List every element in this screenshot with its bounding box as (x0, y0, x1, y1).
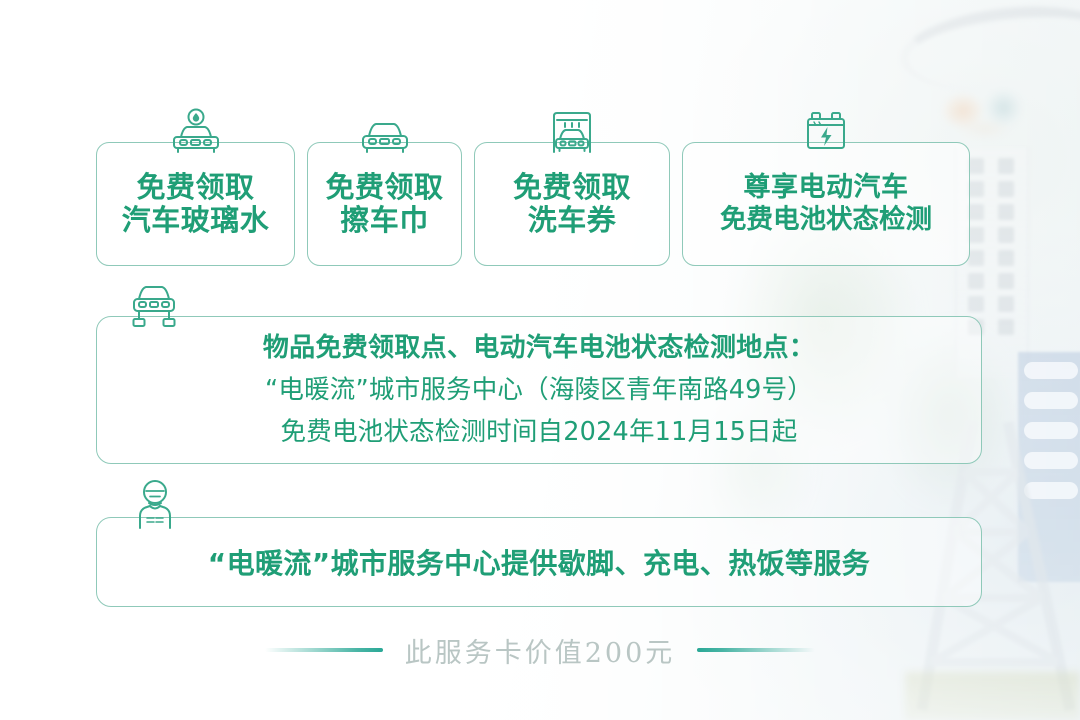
perk-card-car-wash[interactable]: 免费领取 洗车券 (474, 142, 670, 266)
perk-card-line1: 免费领取 (513, 171, 631, 204)
battery-bolt-icon (794, 108, 858, 154)
car-on-lift-icon (125, 279, 185, 329)
perk-card-wipe-towel[interactable]: 免费领取 擦车巾 (307, 142, 462, 266)
location-panel-schedule: 免费电池状态检测时间自2024年11月15日起 (281, 413, 798, 451)
footer-rule-left (265, 648, 383, 652)
perk-card-line2: 汽车玻璃水 (122, 204, 270, 237)
perk-card-line1: 尊享电动汽车 (744, 172, 909, 204)
car-icon (353, 108, 417, 154)
location-panel-title: 物品免费领取点、电动汽车电池状态检测地点： (263, 330, 815, 367)
perk-card-glass-water[interactable]: 免费领取 汽车玻璃水 (96, 142, 295, 266)
service-panel-text: “电暖流”城市服务中心提供歇脚、充电、热饭等服务 (208, 542, 870, 582)
location-info-panel[interactable]: 物品免费领取点、电动汽车电池状态检测地点： “电暖流”城市服务中心（海陵区青年南… (96, 316, 982, 464)
perk-card-line2: 免费电池状态检测 (720, 204, 932, 236)
perk-card-battery-check[interactable]: 尊享电动汽车 免费电池状态检测 (682, 142, 970, 266)
poster-content: 免费领取 汽车玻璃水 免费领取 擦车巾 (0, 0, 1080, 720)
service-info-panel[interactable]: “电暖流”城市服务中心提供歇脚、充电、热饭等服务 (96, 517, 982, 607)
car-glass-water-icon (164, 108, 228, 154)
perk-card-line1: 免费领取 (136, 171, 254, 204)
perk-card-line2: 洗车券 (528, 204, 617, 237)
car-wash-icon (540, 108, 604, 154)
footer-value-note: 此服务卡价值200元 (0, 628, 1080, 672)
perk-card-line1: 免费领取 (325, 171, 443, 204)
worker-person-icon (125, 480, 185, 530)
footer-rule-right (697, 648, 815, 652)
service-card-poster: 免费领取 汽车玻璃水 免费领取 擦车巾 (0, 0, 1080, 720)
perk-card-line2: 擦车巾 (340, 204, 429, 237)
footer-text: 此服务卡价值200元 (405, 631, 676, 670)
location-panel-address: “电暖流”城市服务中心（海陵区青年南路49号） (265, 371, 813, 409)
perk-card-row: 免费领取 汽车玻璃水 免费领取 擦车巾 (96, 142, 970, 266)
